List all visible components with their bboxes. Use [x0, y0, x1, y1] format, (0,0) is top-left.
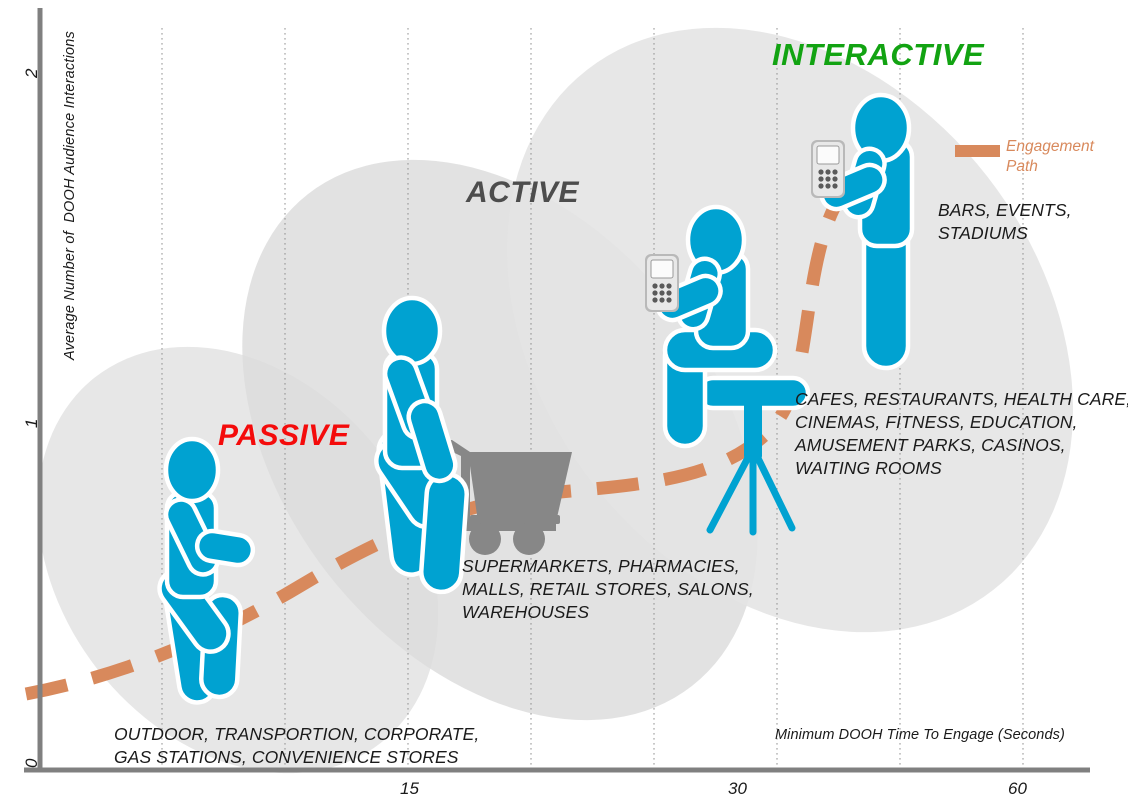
legend-label-line1: Engagement	[1006, 137, 1094, 157]
caption-interactive-line2: CINEMAS, FITNESS, EDUCATION,	[795, 411, 1078, 434]
caption-active-line2: MALLS, RETAIL STORES, SALONS,	[462, 578, 754, 601]
y-axis-label: Average Number of DOOH Audience Interact…	[62, 31, 78, 360]
caption-passive-line1: OUTDOOR, TRANSPORTION, CORPORATE,	[114, 723, 479, 746]
infographic-canvas: Average Number of DOOH Audience Interact…	[0, 0, 1128, 806]
caption-bars-line2: STADIUMS	[938, 222, 1028, 245]
engagement-path-legend-swatch	[955, 145, 1000, 157]
zone-label-interactive: INTERACTIVE	[772, 37, 984, 73]
x-tick-30: 30	[728, 779, 747, 799]
caption-passive-line2: GAS STATIONS, CONVENIENCE STORES	[114, 746, 459, 769]
caption-interactive-line1: CAFES, RESTAURANTS, HEALTH CARE,	[795, 388, 1128, 411]
caption-interactive-line3: AMUSEMENT PARKS, CASINOS,	[795, 434, 1066, 457]
y-tick-2: 2	[22, 69, 42, 78]
x-tick-60: 60	[1008, 779, 1027, 799]
y-tick-0: 0	[22, 759, 42, 768]
y-tick-1: 1	[22, 419, 42, 428]
zone-label-passive: PASSIVE	[218, 419, 349, 453]
caption-interactive-line4: WAITING ROOMS	[795, 457, 942, 480]
caption-active-line1: SUPERMARKETS, PHARMACIES,	[462, 555, 740, 578]
caption-active-line3: WAREHOUSES	[462, 601, 589, 624]
x-tick-15: 15	[400, 779, 419, 799]
zone-label-active: ACTIVE	[466, 176, 579, 210]
caption-bars-line1: BARS, EVENTS,	[938, 199, 1072, 222]
x-axis-label: Minimum DOOH Time To Engage (Seconds)	[775, 727, 1065, 743]
legend-label-line2: Path	[1006, 157, 1038, 177]
